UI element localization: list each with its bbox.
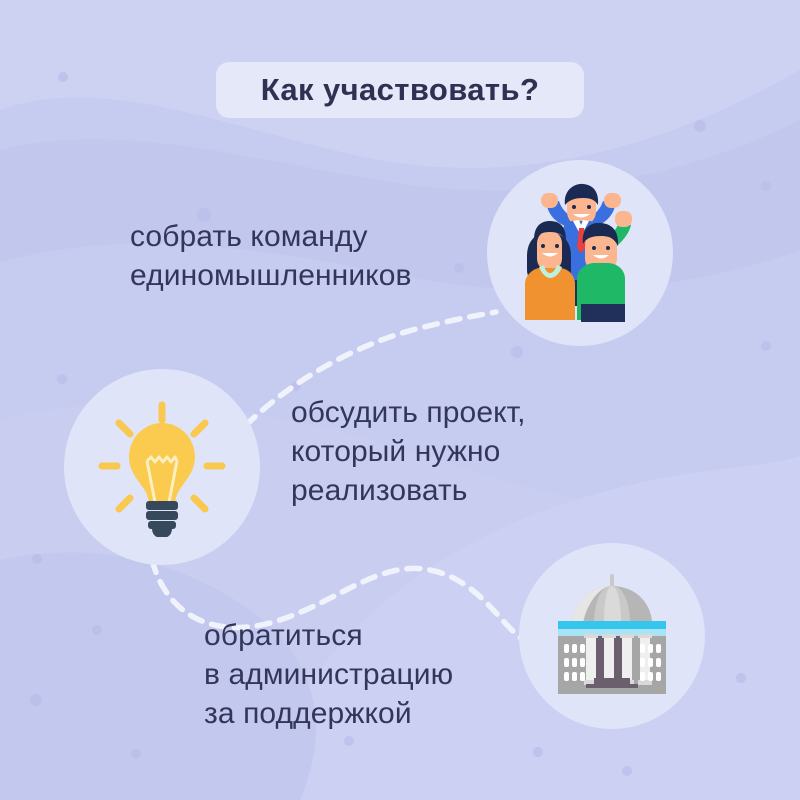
step-label-administration: обратиться в администрацию за поддержкой: [204, 616, 453, 733]
lightbulb-icon: [92, 397, 232, 537]
page-title: Как участвовать?: [261, 72, 540, 108]
team-icon: [505, 178, 655, 328]
step-label-idea: обсудить проект, который нужно реализова…: [291, 393, 526, 510]
step-label-team: собрать команду единомышленников: [130, 217, 412, 295]
infographic-poster: Как участвовать? собрать команду единомы…: [0, 0, 800, 800]
government-building-icon: [542, 566, 682, 706]
icon-circle-administration: [519, 543, 705, 729]
icon-circle-team: [487, 160, 673, 346]
icon-circle-idea: [64, 369, 260, 565]
page-title-card: Как участвовать?: [216, 62, 584, 118]
